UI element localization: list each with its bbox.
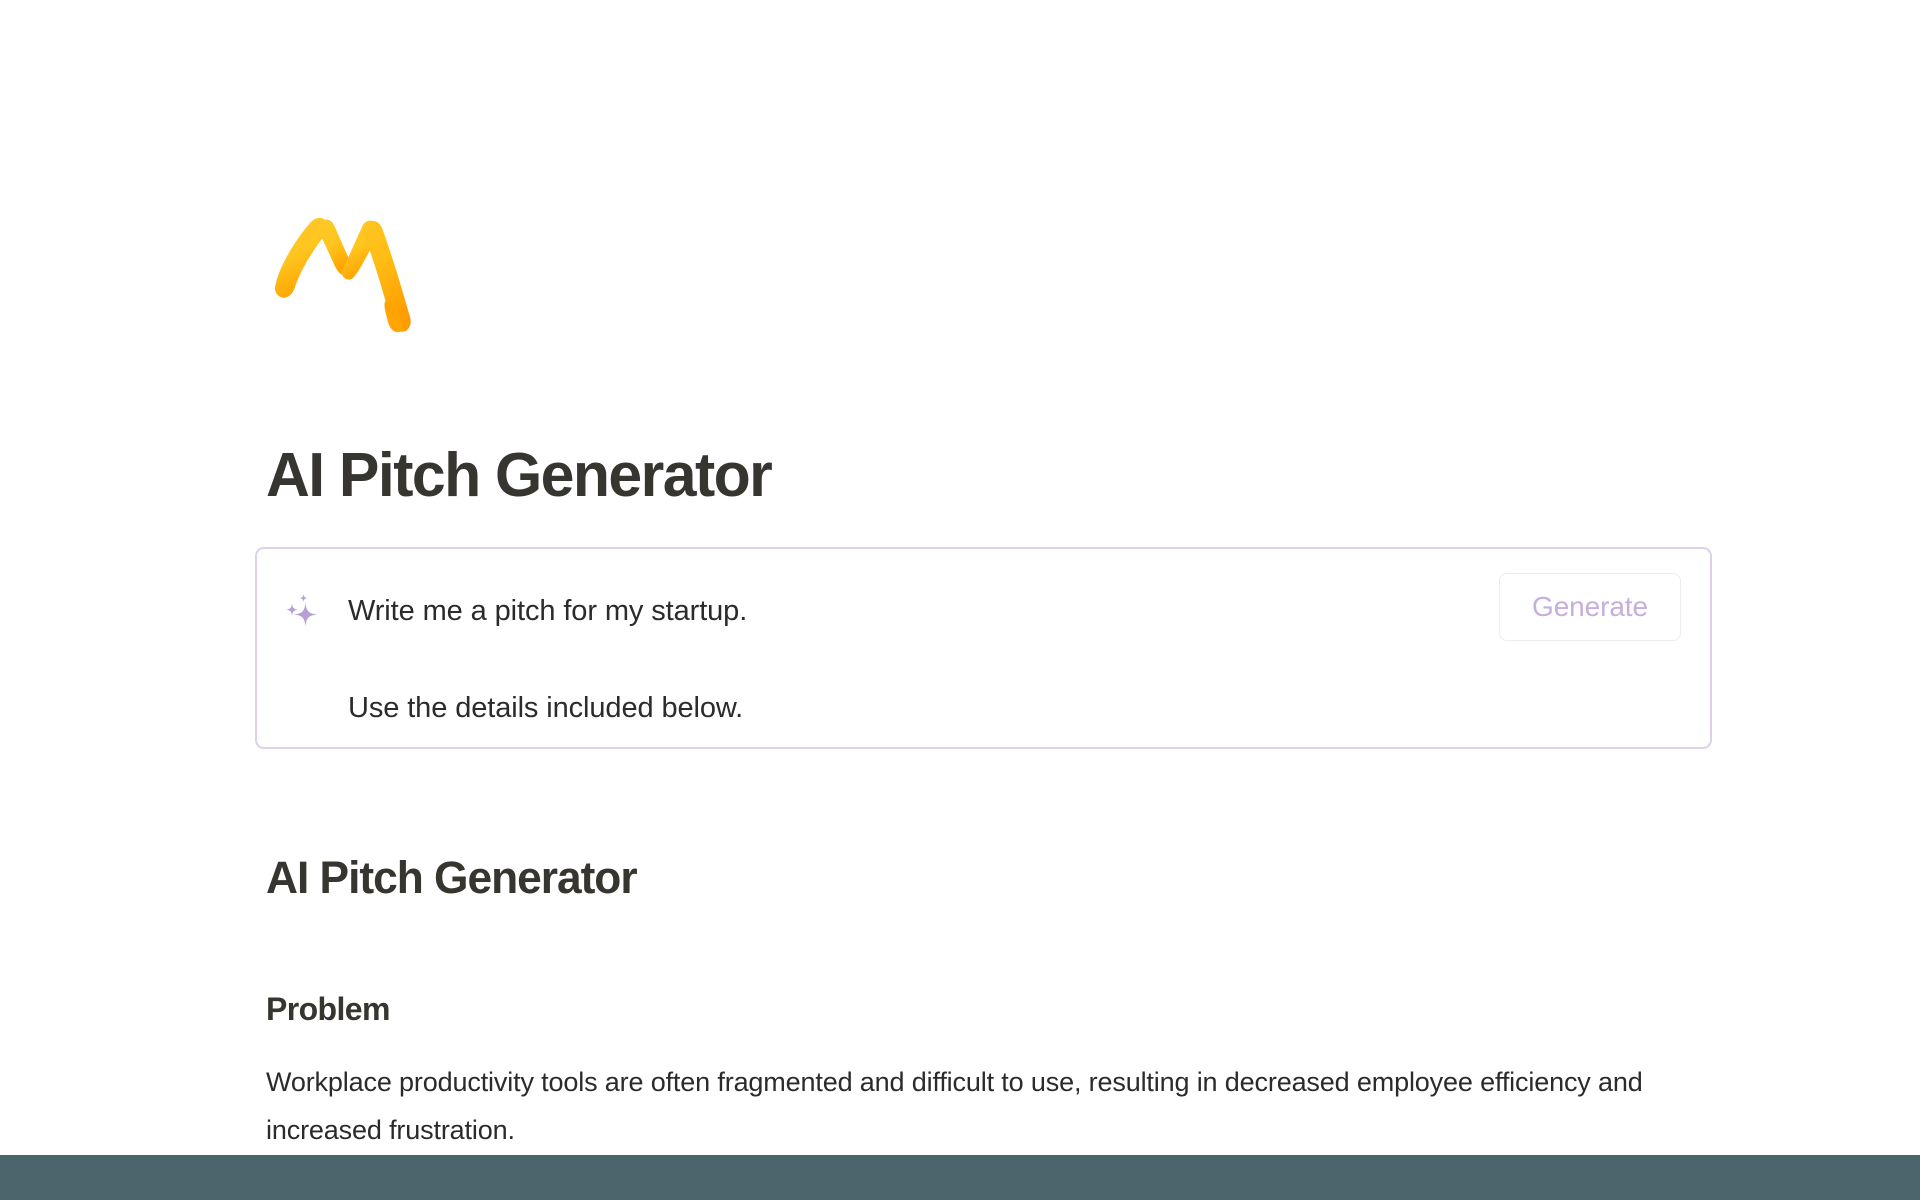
app-page: AI Pitch Generator Write me a pitch for … [0,0,1920,1200]
prompt-text-line-1[interactable]: Write me a pitch for my startup. [348,590,747,632]
prompt-card[interactable]: Write me a pitch for my startup. Use the… [255,547,1712,749]
prompt-text-line-2[interactable]: Use the details included below. [348,687,743,729]
generate-button[interactable]: Generate [1499,573,1681,641]
section-heading-problem: Problem [266,991,390,1028]
section-body-problem: Workplace productivity tools are often f… [266,1058,1646,1154]
page-title: AI Pitch Generator [266,443,771,509]
sparkles-icon [282,591,324,633]
miro-m-logo-icon [266,205,426,340]
document-title: AI Pitch Generator [266,853,637,903]
prompt-row: Write me a pitch for my startup. Use the… [257,549,1710,747]
bottom-bar [0,1155,1920,1200]
